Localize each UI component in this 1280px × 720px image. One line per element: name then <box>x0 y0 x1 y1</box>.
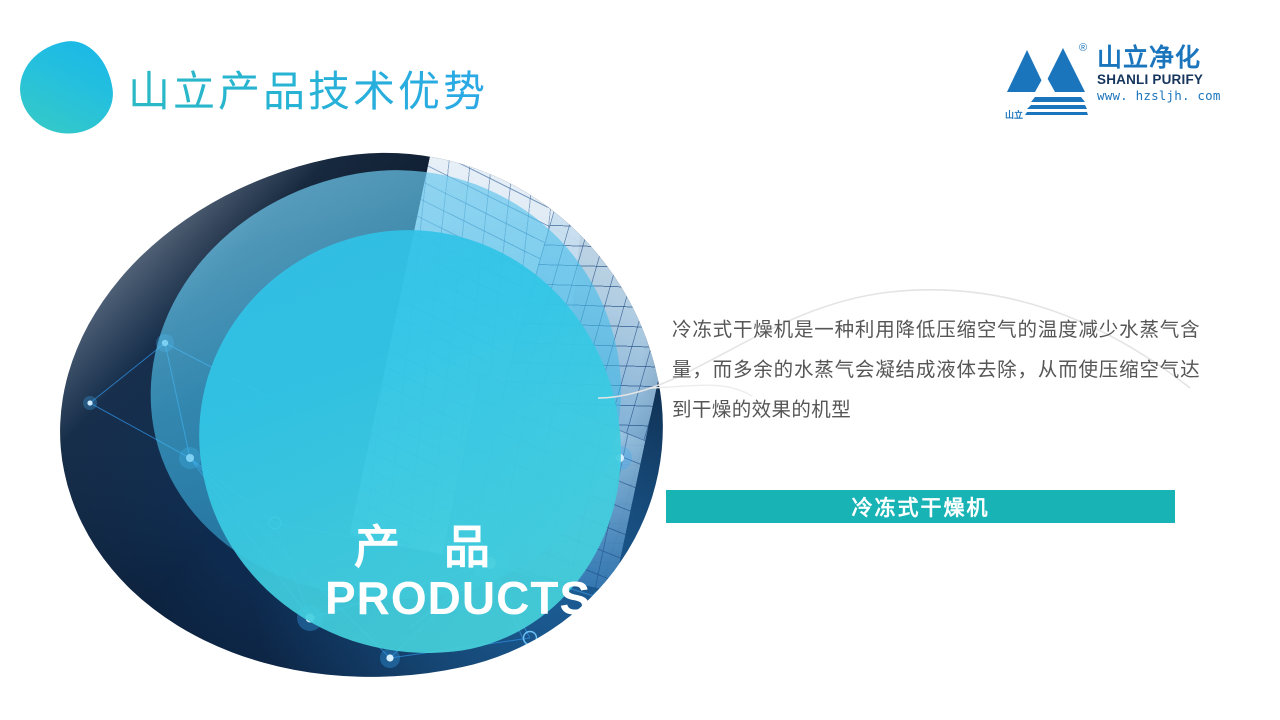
registered-trademark-icon: ® <box>1079 42 1087 54</box>
hero-title-group: 产 品 PRODUCTS <box>350 520 640 626</box>
logo-name-en: SHANLI PURIFY <box>1097 72 1222 88</box>
header-decor-blob-icon <box>14 36 118 140</box>
hero-title-en: PRODUCTS <box>325 570 640 626</box>
page-title: 山立产品技术优势 <box>128 58 488 119</box>
logo-name-cn: 山立净化 <box>1097 44 1222 72</box>
page-header: 山立产品技术优势 ® 山立 山立净化 SHANLI PURIFY www. hz… <box>0 0 1280 150</box>
product-name-label: 冷冻式干燥机 <box>852 492 990 522</box>
company-logo[interactable]: ® 山立 山立净化 SHANLI PURIFY www. hzsljh. com <box>1005 40 1220 122</box>
logo-mark-caption: 山立 <box>1005 108 1023 121</box>
twin-mountain-svg <box>1005 44 1089 116</box>
hero-title-cn: 产 品 <box>350 520 640 574</box>
hero-graphic: 产 品 PRODUCTS <box>40 150 680 695</box>
logo-wordmark: 山立净化 SHANLI PURIFY www. hzsljh. com <box>1097 44 1222 103</box>
twin-mountain-icon <box>1005 44 1089 116</box>
product-name-banner[interactable]: 冷冻式干燥机 <box>666 490 1175 523</box>
product-description: 冷冻式干燥机是一种利用降低压缩空气的温度减少水蒸气含量，而多余的水蒸气会凝结成液… <box>672 310 1200 430</box>
logo-website[interactable]: www. hzsljh. com <box>1097 88 1222 103</box>
